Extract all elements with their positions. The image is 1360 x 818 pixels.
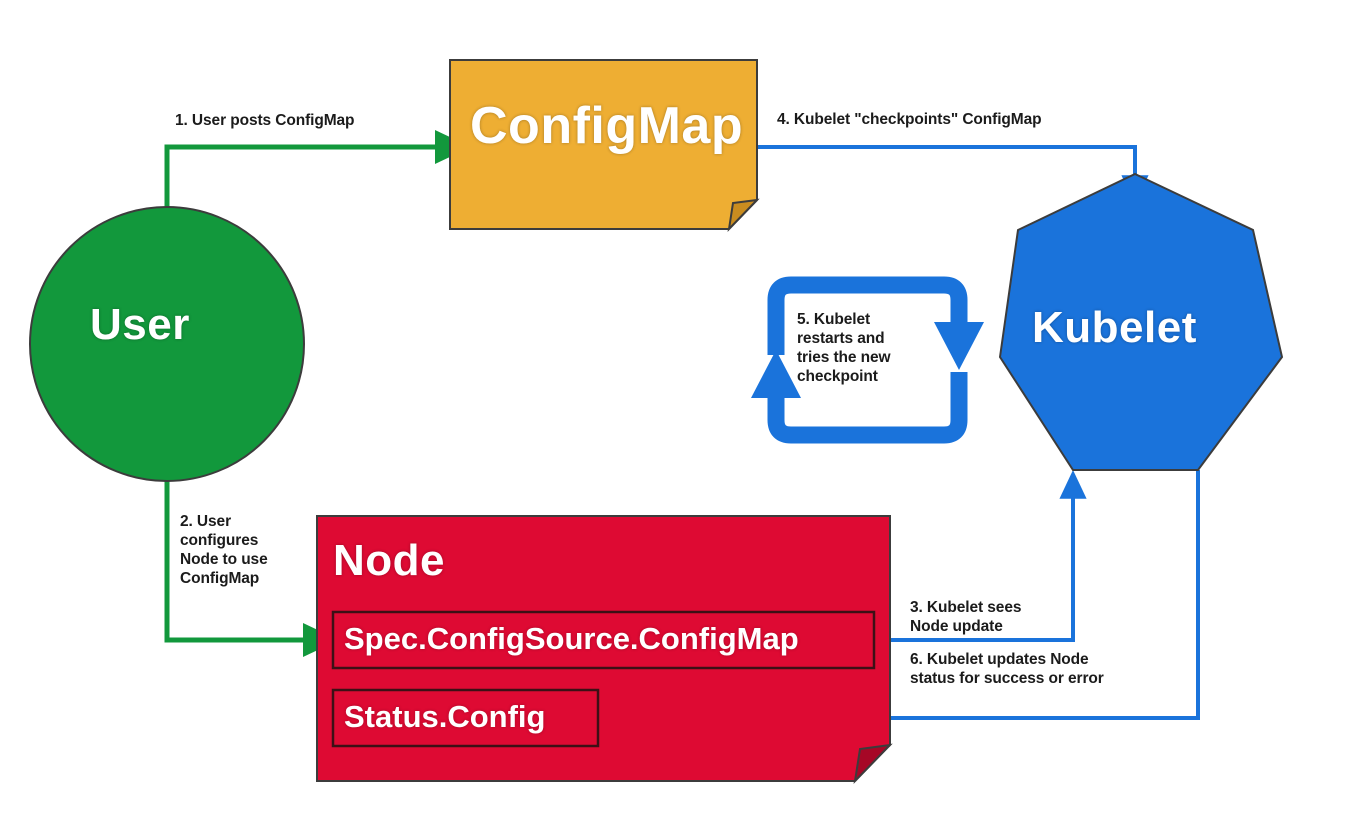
edge-label-step5: 5. Kubelet restarts and tries the new ch… bbox=[797, 310, 890, 386]
edge-label-step1: 1. User posts ConfigMap bbox=[175, 111, 354, 130]
edge-label-step3: 3. Kubelet sees Node update bbox=[910, 598, 1021, 636]
diagram-canvas: User ConfigMap Kubelet Node Spec.ConfigS… bbox=[0, 0, 1360, 818]
edge-label-step2: 2. User configures Node to use ConfigMap bbox=[180, 512, 268, 588]
edge-label-step6: 6. Kubelet updates Node status for succe… bbox=[910, 650, 1104, 688]
node-configmap-shape[interactable] bbox=[450, 60, 757, 229]
edge-label-step4: 4. Kubelet "checkpoints" ConfigMap bbox=[777, 110, 1042, 129]
node-kubelet-shape[interactable] bbox=[1000, 174, 1282, 470]
node-node-shape[interactable] bbox=[317, 516, 890, 781]
node-user-shape[interactable] bbox=[30, 207, 304, 481]
